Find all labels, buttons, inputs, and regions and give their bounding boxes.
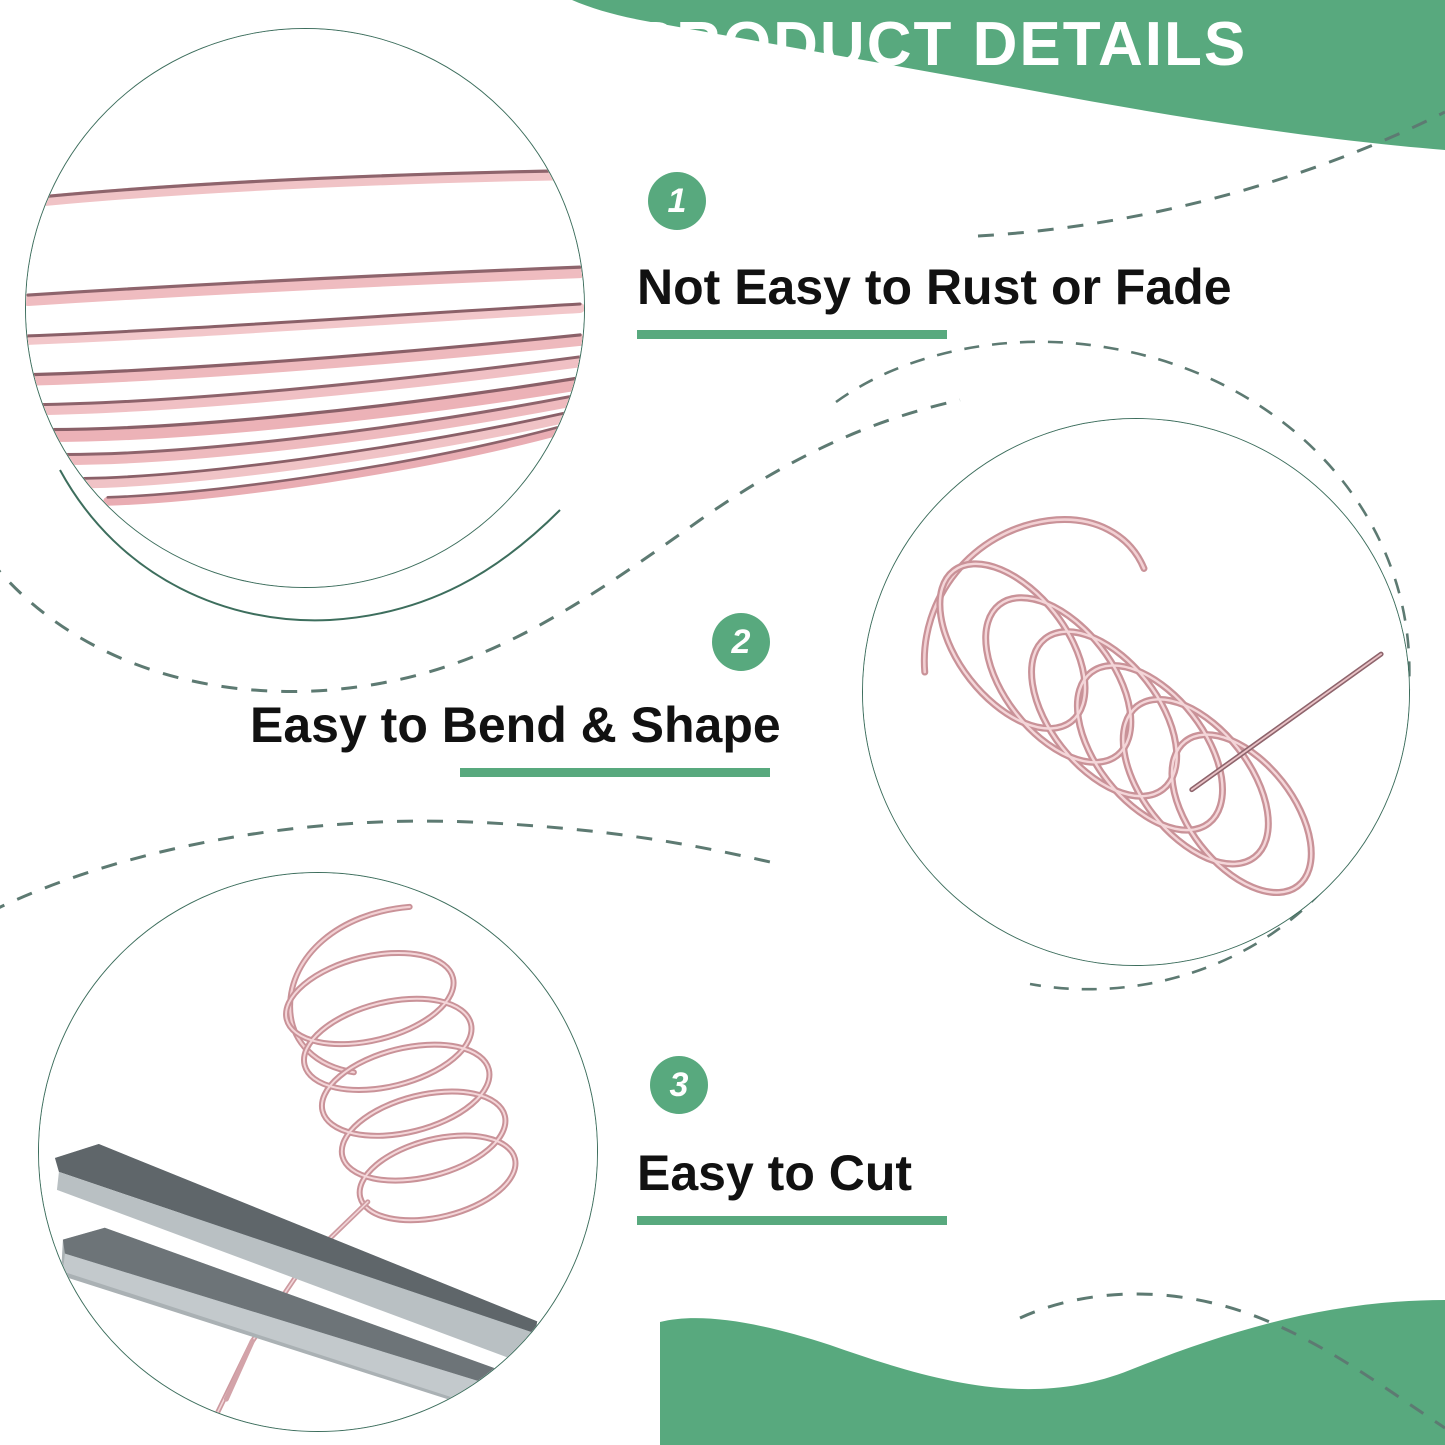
feature-heading-1: Not Easy to Rust or Fade — [637, 262, 1232, 312]
feature-badge-2: 2 — [712, 613, 770, 671]
feature-badge-1: 1 — [648, 172, 706, 230]
feature-underline-bar-1 — [637, 330, 947, 339]
feature-underline-bar-2 — [460, 768, 770, 777]
feature-heading-3: Easy to Cut — [637, 1148, 912, 1198]
feature-underline-bar-3 — [637, 1216, 947, 1225]
feature-badge-3: 3 — [650, 1056, 708, 1114]
feature-heading-2: Easy to Bend & Shape — [250, 700, 781, 750]
product-details-infographic: PRODUCT DETAILS — [0, 0, 1445, 1445]
